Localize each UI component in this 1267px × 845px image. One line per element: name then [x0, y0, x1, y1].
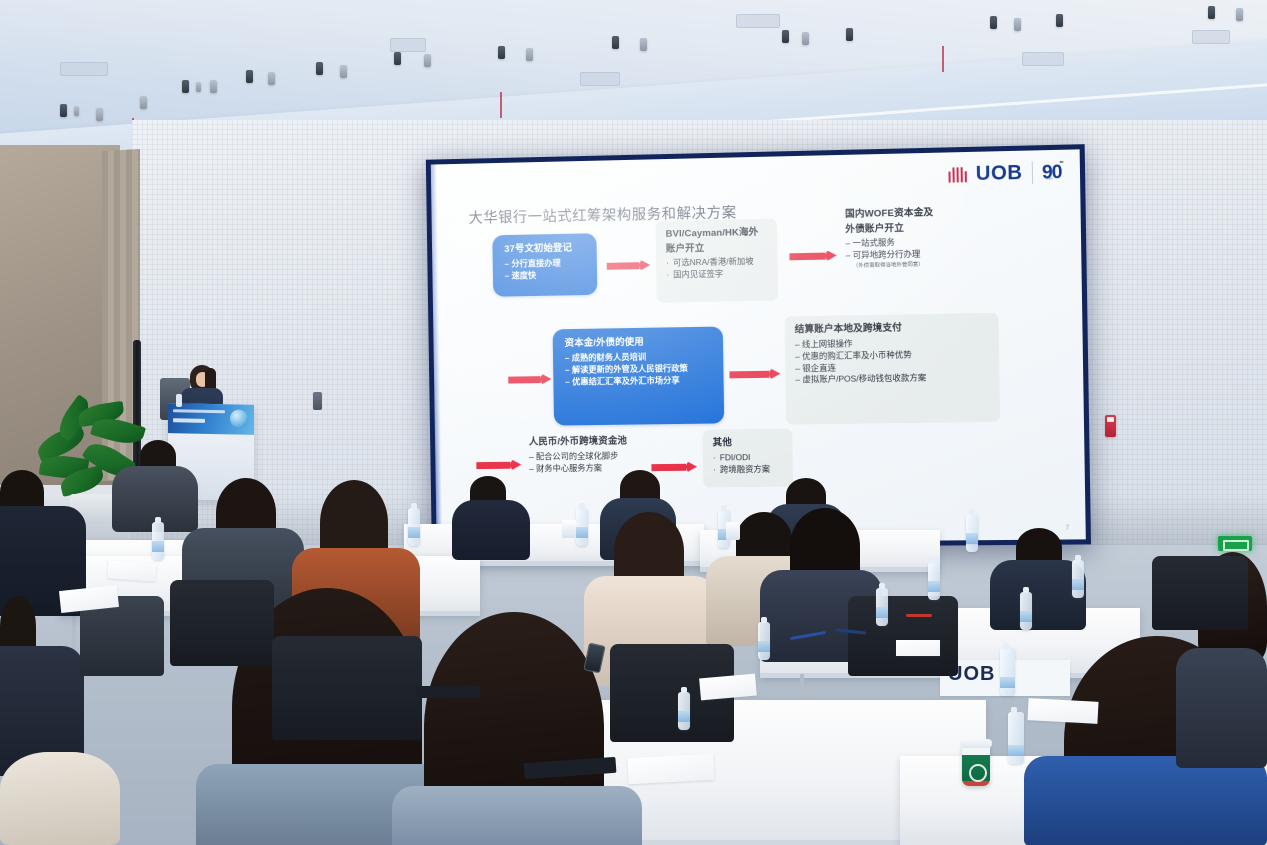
uob-logo: UOB 90 1935-2025 Years	[948, 161, 1062, 186]
ceiling-spotlight	[498, 46, 505, 59]
water-bottle[interactable]	[576, 508, 588, 546]
conference-room-photo: UOB 90 1935-2025 Years 大华银行一站式红筹架构服务和解决方…	[0, 0, 1267, 845]
anniversary-sub: Years	[1045, 178, 1053, 181]
water-bottle[interactable]	[1000, 648, 1015, 696]
ceiling-spotlight	[196, 82, 201, 92]
ceiling-red-marker	[500, 92, 502, 118]
ceiling-spotlight	[990, 16, 997, 29]
ceiling-spotlight	[60, 104, 67, 117]
laptop[interactable]	[416, 686, 480, 698]
arrow-2	[789, 249, 837, 262]
node-bullet: –速度快	[505, 269, 588, 282]
uob-bars-icon	[948, 167, 967, 183]
node-heading: 结算账户本地及跨境支付	[795, 321, 989, 337]
ceiling-spotlight	[96, 108, 103, 121]
node-heading-line2: 外债账户开立	[845, 220, 1048, 237]
node-heading: 其他	[713, 437, 783, 450]
ceiling-spotlight	[140, 96, 147, 109]
ceiling-spotlight	[1236, 8, 1243, 21]
name-badge	[726, 522, 740, 540]
ceiling-spotlight	[182, 80, 189, 93]
exit-sign-icon	[1218, 536, 1252, 551]
projection-screen: UOB 90 1935-2025 Years 大华银行一站式红筹架构服务和解决方…	[426, 144, 1091, 549]
ceiling-spotlight	[424, 54, 431, 67]
arrow-6	[651, 461, 697, 473]
ceiling-air-vent	[580, 72, 620, 86]
node-bullet: ·可选NRA/香港/新加坡	[666, 256, 768, 270]
ceiling-spotlight	[268, 72, 275, 85]
chair[interactable]	[170, 580, 274, 666]
presentation-slide: UOB 90 1935-2025 Years 大华银行一站式红筹架构服务和解决方…	[431, 149, 1086, 544]
chair[interactable]	[848, 596, 958, 676]
node-other: 其他 ·FDI/ODI ·跨境融资方案	[702, 429, 793, 488]
notepad[interactable]	[896, 640, 940, 656]
water-bottle[interactable]	[928, 562, 940, 600]
ceiling-air-vent	[1022, 52, 1064, 66]
ceiling-spotlight	[210, 80, 217, 93]
chair[interactable]	[1152, 556, 1248, 630]
arrow-1	[607, 259, 651, 272]
node-offshore-account: BVI/Cayman/HK海外 账户开立 ·可选NRA/香港/新加坡 ·国内见证…	[656, 219, 779, 303]
ceiling-spotlight	[1208, 6, 1215, 19]
ceiling-spotlight	[526, 48, 533, 61]
ceiling-spotlight	[340, 65, 347, 78]
ceiling-red-marker	[942, 46, 944, 72]
ceiling-spotlight	[316, 62, 323, 75]
ceiling-spotlight	[802, 32, 809, 45]
node-bullet: ·FDI/ODI	[713, 451, 783, 464]
water-bottle[interactable]	[1020, 592, 1032, 630]
node-settlement: 结算账户本地及跨境支付 –线上网银操作 –优惠的购汇汇率及小币种优势 –银企直连…	[784, 313, 1000, 425]
ceiling-spotlight	[640, 38, 647, 51]
node-bullet: –虚拟账户/POS/移动钱包收款方案	[795, 372, 989, 387]
ceiling-spotlight	[846, 28, 853, 41]
slide-page-number: 7	[1066, 525, 1070, 531]
name-badge	[562, 520, 576, 538]
node-heading: 37号文初始登记	[504, 242, 587, 256]
water-bottle[interactable]	[678, 692, 690, 730]
water-bottle[interactable]	[966, 514, 978, 552]
arrow-3	[508, 373, 551, 386]
node-capital-usage: 资本金/外债的使用 –成熟的财务人员培训 –解读更新的外管及人民银行政策 –优惠…	[553, 327, 725, 426]
ceiling-air-vent	[736, 14, 780, 28]
wall-sensor-icon	[313, 392, 322, 410]
water-bottle[interactable]	[1072, 560, 1084, 598]
node-heading: 人民币/外币跨境资金池	[529, 435, 707, 450]
anniversary-tag: 1935-2025	[1059, 161, 1063, 164]
ceiling-air-vent	[60, 62, 108, 76]
lectern-banner	[168, 403, 254, 435]
arrow-4	[729, 368, 781, 381]
notepad[interactable]	[107, 560, 156, 581]
node-bullet: –优惠结汇汇率及外汇市场分享	[565, 374, 714, 388]
node-bullet: ·国内见证签字	[666, 268, 768, 282]
anniversary-logo: 90 1935-2025 Years	[1042, 162, 1062, 182]
pen[interactable]	[906, 614, 932, 617]
lectern-water-bottle	[176, 394, 182, 407]
node-wofe: 国内WOFE资本金及 外债账户开立 –一站式服务 –可异地跨分行办理 （外债需取…	[845, 205, 1049, 271]
ceiling-air-vent	[390, 38, 426, 52]
arrow-5	[476, 459, 521, 471]
node-bullet: ·跨境融资方案	[713, 463, 783, 476]
water-bottle[interactable]	[876, 588, 888, 626]
water-bottle[interactable]	[758, 622, 770, 660]
globe-icon	[230, 409, 248, 427]
ceiling-spotlight	[394, 52, 401, 65]
node-37hao: 37号文初始登记 –分行直接办理 –速度快	[492, 233, 597, 296]
node-heading-line2: 账户开立	[666, 241, 768, 256]
ceiling-spotlight	[1056, 14, 1063, 27]
chair[interactable]	[272, 636, 422, 740]
logo-divider	[1032, 162, 1033, 184]
water-bottle[interactable]	[152, 522, 164, 560]
ceiling-spotlight	[246, 70, 253, 83]
node-heading-line1: BVI/Cayman/HK海外	[666, 227, 768, 242]
uob-wordmark: UOB	[976, 163, 1023, 184]
water-bottle[interactable]	[1008, 712, 1024, 764]
coffee-cup[interactable]	[962, 744, 990, 786]
ceiling-spotlight	[782, 30, 789, 43]
screen-surface: UOB 90 1935-2025 Years 大华银行一站式红筹架构服务和解决方…	[431, 149, 1086, 544]
water-bottle[interactable]	[408, 508, 420, 546]
notepad[interactable]	[627, 754, 714, 784]
fire-alarm-icon	[1105, 415, 1116, 437]
ceiling-spotlight	[74, 106, 79, 116]
ceiling-spotlight	[1014, 18, 1021, 31]
node-heading: 资本金/外债的使用	[565, 336, 714, 351]
ceiling-air-vent	[1192, 30, 1230, 44]
notepad[interactable]	[1027, 698, 1098, 724]
ceiling-spotlight	[612, 36, 619, 49]
